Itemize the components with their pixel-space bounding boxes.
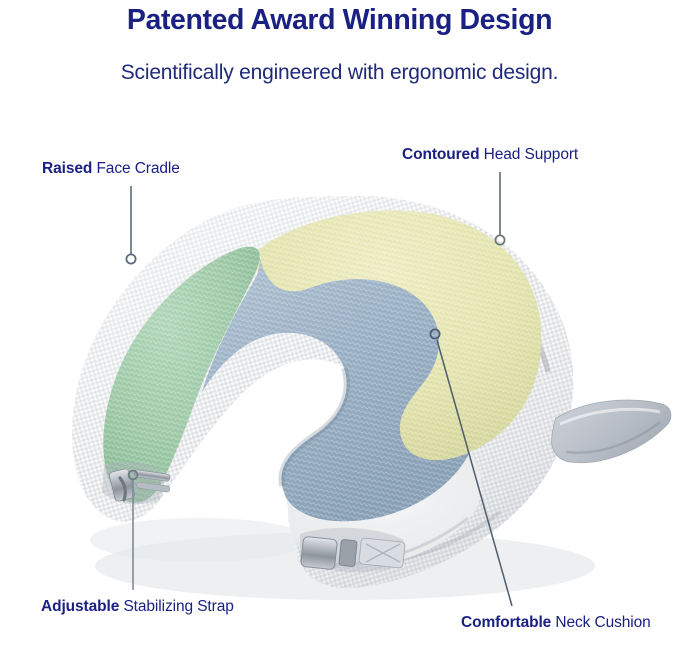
callout-raised-face-cradle: Raised Face Cradle	[42, 160, 180, 178]
callout-comfortable-neck-cushion: Comfortable Neck Cushion	[461, 614, 651, 632]
callout-keyword: Raised	[42, 160, 92, 177]
callout-keyword: Adjustable	[41, 598, 119, 615]
callout-keyword: Comfortable	[461, 614, 551, 631]
product-illustration	[0, 0, 679, 663]
callout-rest: Face Cradle	[92, 160, 180, 177]
infographic-page: Patented Award Winning Design Scientific…	[0, 0, 679, 663]
front-buckle-clasp	[300, 528, 405, 573]
callout-rest: Head Support	[479, 146, 578, 163]
callout-rest: Stabilizing Strap	[119, 598, 234, 615]
leader-head-support	[495, 172, 504, 245]
callout-rest: Neck Cushion	[551, 614, 651, 631]
leader-face-cradle	[126, 186, 135, 264]
callout-keyword: Contoured	[402, 146, 479, 163]
callout-adjustable-stabilizing-strap: Adjustable Stabilizing Strap	[41, 598, 234, 616]
callout-contoured-head-support: Contoured Head Support	[402, 146, 578, 164]
